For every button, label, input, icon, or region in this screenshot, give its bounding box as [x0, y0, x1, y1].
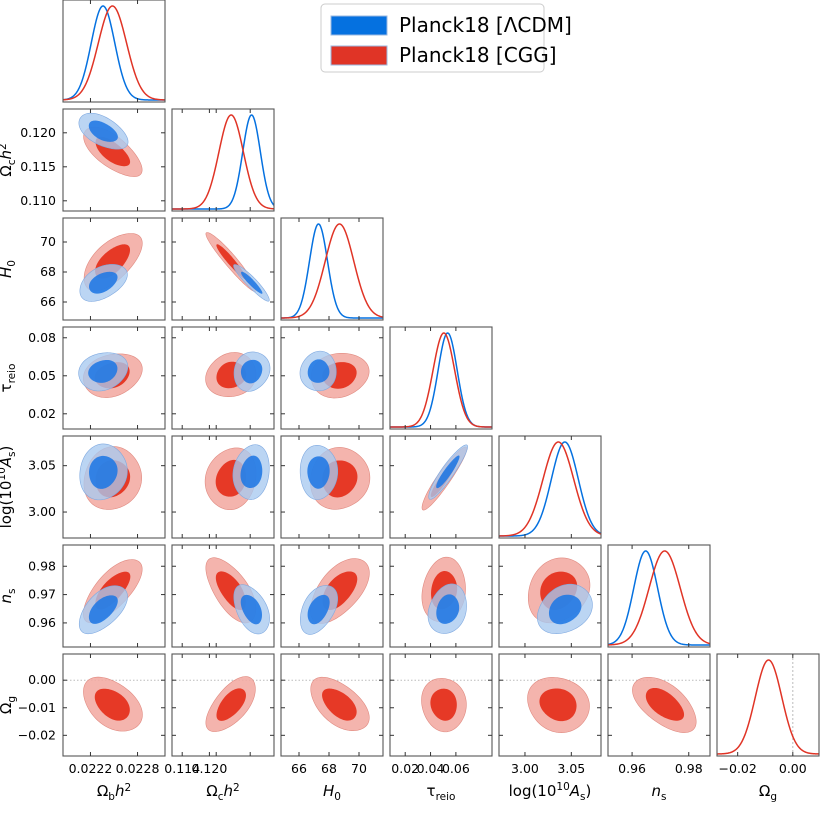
panel-2d-omega_c-vs-tau_reio: [172, 327, 274, 429]
contours-lcdm: [234, 352, 270, 391]
ytick-label: 0.98: [28, 558, 56, 573]
yaxis-label-H0: H0: [0, 260, 18, 278]
contours-cgg: [422, 678, 467, 731]
density-curve-lcdm: [390, 333, 492, 427]
panel-2d-H0-vs-tau_reio: [281, 327, 383, 429]
xtick-label: 3.05: [557, 761, 585, 776]
panel-2d-omega_c-vs-logA: [172, 436, 274, 538]
xaxis-label-tau_reio: τreio: [427, 782, 456, 803]
xaxis-label-omega_b: Ωbh2: [97, 782, 131, 803]
panel-2d-omega_c-vs-omega_g: [172, 654, 274, 756]
ytick-label: 0.02: [28, 406, 56, 421]
ytick-label: 3.05: [28, 458, 56, 473]
ytick-label: 68: [40, 264, 56, 279]
contours-lcdm: [79, 586, 127, 634]
xtick-label: 0.96: [618, 761, 646, 776]
corner-plot-figure: 0.1100.1150.120Ωch2666870H00.020.050.08τ…: [0, 0, 830, 831]
ytick-label: 70: [40, 234, 56, 249]
panel-1d-tau_reio: [390, 327, 492, 429]
legend-label-cgg: Planck18 [CGG]: [399, 43, 557, 67]
contours-cgg: [311, 677, 370, 730]
xtick-label: 68: [321, 761, 337, 776]
xtick-label: 0.02: [391, 761, 419, 776]
ytick-label: 0.110: [20, 193, 56, 208]
panel-2d-ns-vs-omega_g: [608, 654, 710, 756]
xaxis-label-omega_c: Ωch2: [206, 782, 239, 803]
yaxis-label-logA: log(1010As): [0, 446, 18, 529]
panel-2d-H0-vs-omega_g: [281, 654, 383, 756]
contours-cgg: [83, 677, 142, 731]
panel-frame: [63, 0, 165, 102]
panel-1d-omega_g: [717, 654, 819, 756]
density-curve-cgg: [172, 115, 274, 209]
contours-cgg: [206, 677, 255, 732]
panel-2d-tau_reio-vs-omega_g: [390, 654, 492, 756]
contours-lcdm: [300, 585, 337, 634]
panel-2d-omega_b-vs-tau_reio: [63, 327, 165, 429]
ytick-label: 0.115: [20, 159, 56, 174]
panel-1d-omega_b: [63, 0, 165, 102]
xaxis-label-omega_g: Ωg: [759, 782, 777, 803]
panel-2d-omega_b-vs-omega_g: [63, 654, 165, 756]
panel-frame: [390, 327, 492, 429]
panel-2d-omega_c-vs-ns: [172, 545, 274, 647]
xtick-label: 66: [291, 761, 307, 776]
panel-1d-H0: [281, 218, 383, 320]
panel-2d-logA-vs-ns: [499, 545, 601, 647]
legend-swatch-cgg: [331, 46, 387, 65]
xaxis-label-logA: log(1010As): [509, 781, 592, 803]
xtick-label: 0.04: [417, 761, 445, 776]
panel-1d-ns: [608, 545, 710, 647]
xtick-label: 0.00: [779, 761, 807, 776]
figure-canvas: 0.1100.1150.120Ωch2666870H00.020.050.08τ…: [0, 0, 830, 831]
density-curve-cgg: [717, 660, 819, 754]
contours-lcdm: [300, 351, 336, 391]
xaxis-label-ns: ns: [652, 782, 667, 803]
panel-2d-H0-vs-ns: [281, 545, 383, 647]
ytick-label: 0.05: [28, 368, 56, 383]
xtick-label: 0.120: [192, 761, 228, 776]
density-curve-cgg: [390, 333, 492, 427]
ytick-label: 3.00: [28, 504, 56, 519]
panel-1d-omega_c: [172, 109, 274, 211]
legend-swatch-lcdm: [331, 16, 387, 35]
density-curve-lcdm: [172, 115, 274, 209]
yaxis-label-omega_c: Ωch2: [0, 143, 18, 176]
legend-label-lcdm: Planck18 [ΛCDM]: [399, 13, 572, 37]
panel-frame: [172, 218, 274, 320]
ytick-label: 0.96: [28, 615, 56, 630]
ytick-label: −0.01: [18, 700, 56, 715]
panel-2d-omega_b-vs-ns: [63, 545, 165, 647]
ytick-label: −0.02: [18, 727, 56, 742]
panel-2d-tau_reio-vs-logA: [390, 436, 492, 538]
yaxis-label-tau_reio: τreio: [0, 364, 18, 393]
contours-cgg: [528, 677, 590, 732]
xtick-label: 0.0222: [69, 761, 113, 776]
xaxis-label-H0: H0: [323, 782, 341, 803]
panel-2d-omega_c-vs-H0: [172, 218, 274, 320]
density-curve-cgg: [63, 6, 165, 100]
ytick-label: 66: [40, 294, 56, 309]
panel-2d-omega_b-vs-omega_c: [63, 109, 165, 211]
panel-2d-H0-vs-logA: [281, 436, 383, 538]
xtick-label: 70: [351, 761, 367, 776]
contours-lcdm: [234, 265, 270, 302]
xtick-label: 3.00: [511, 761, 539, 776]
panel-1d-logA: [499, 436, 601, 538]
yaxis-label-ns: ns: [0, 589, 18, 604]
panel-2d-omega_b-vs-logA: [63, 436, 165, 538]
xtick-label: 0.98: [675, 761, 703, 776]
ytick-label: 0.97: [28, 587, 56, 602]
ytick-label: 0.08: [28, 330, 56, 345]
ytick-label: 0.120: [20, 125, 56, 140]
contours-cgg: [632, 677, 696, 732]
panel-2d-omega_b-vs-H0: [63, 218, 165, 320]
panel-2d-tau_reio-vs-ns: [390, 545, 492, 647]
xtick-label: 0.0228: [116, 761, 160, 776]
panel-frame: [717, 654, 819, 756]
density-curve-lcdm: [63, 6, 165, 100]
contours-lcdm: [429, 445, 468, 500]
density-curve-cgg: [499, 442, 601, 536]
contours-lcdm: [234, 585, 270, 634]
xtick-label: 0.06: [442, 761, 470, 776]
density-curve-cgg: [281, 224, 383, 318]
ytick-label: 0.00: [28, 672, 56, 687]
legend: Planck18 [ΛCDM]Planck18 [CGG]: [321, 4, 572, 72]
panel-frame: [172, 109, 274, 211]
xtick-label: −0.02: [719, 761, 757, 776]
yaxis-label-omega_g: Ωg: [0, 696, 18, 714]
panel-2d-logA-vs-omega_g: [499, 654, 601, 756]
